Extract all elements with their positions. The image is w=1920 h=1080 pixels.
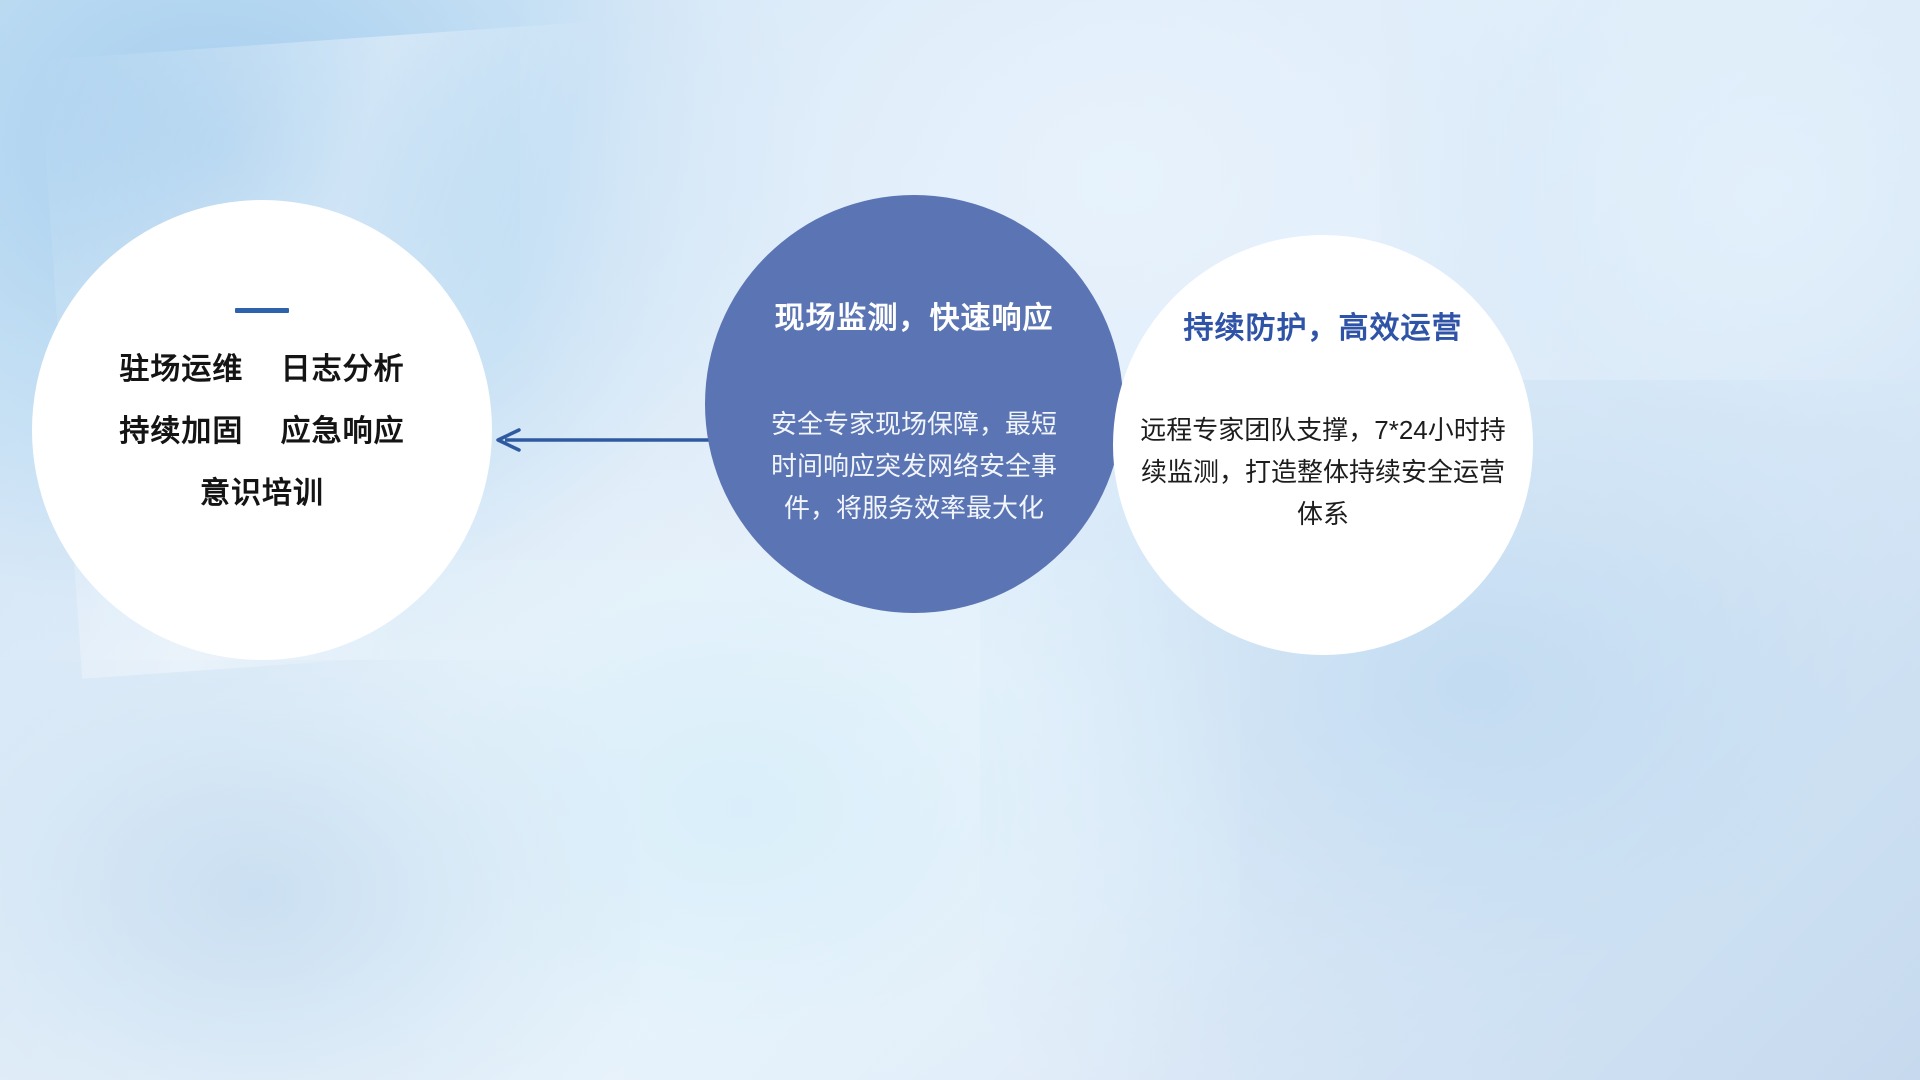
onsite-monitoring-circle: 现场监测，快速响应 安全专家现场保障，最短时间响应突发网络安全事件，将服务效率最… bbox=[705, 195, 1123, 613]
onsite-monitoring-body: 安全专家现场保障，最短时间响应突发网络安全事件，将服务效率最大化 bbox=[764, 403, 1064, 529]
continuous-protection-title: 持续防护，高效运营 bbox=[1184, 303, 1463, 347]
leftward-arrow-icon bbox=[498, 430, 712, 450]
capability-line-2: 持续加固 应急响应 bbox=[119, 417, 404, 447]
background-wash-bottom-center bbox=[240, 560, 1240, 1080]
continuous-protection-body: 远程专家团队支撑，7*24小时持续监测，打造整体持续安全运营体系 bbox=[1140, 409, 1506, 535]
divider-dash bbox=[235, 308, 289, 313]
background-wash-top-center bbox=[520, 0, 1720, 680]
continuous-protection-circle: 持续防护，高效运营 远程专家团队支撑，7*24小时持续监测，打造整体持续安全运营… bbox=[1113, 235, 1533, 655]
capability-line-3: 意识培训 bbox=[200, 479, 324, 509]
slide-canvas: 驻场运维 日志分析 持续加固 应急响应 意识培训 现场监测，快速响应 安全专家现… bbox=[0, 0, 1920, 1080]
background-wash-bottom-left bbox=[0, 660, 640, 1080]
capability-line-1: 驻场运维 日志分析 bbox=[119, 355, 404, 385]
capabilities-circle: 驻场运维 日志分析 持续加固 应急响应 意识培训 bbox=[32, 200, 492, 660]
onsite-monitoring-title: 现场监测，快速响应 bbox=[775, 293, 1054, 337]
